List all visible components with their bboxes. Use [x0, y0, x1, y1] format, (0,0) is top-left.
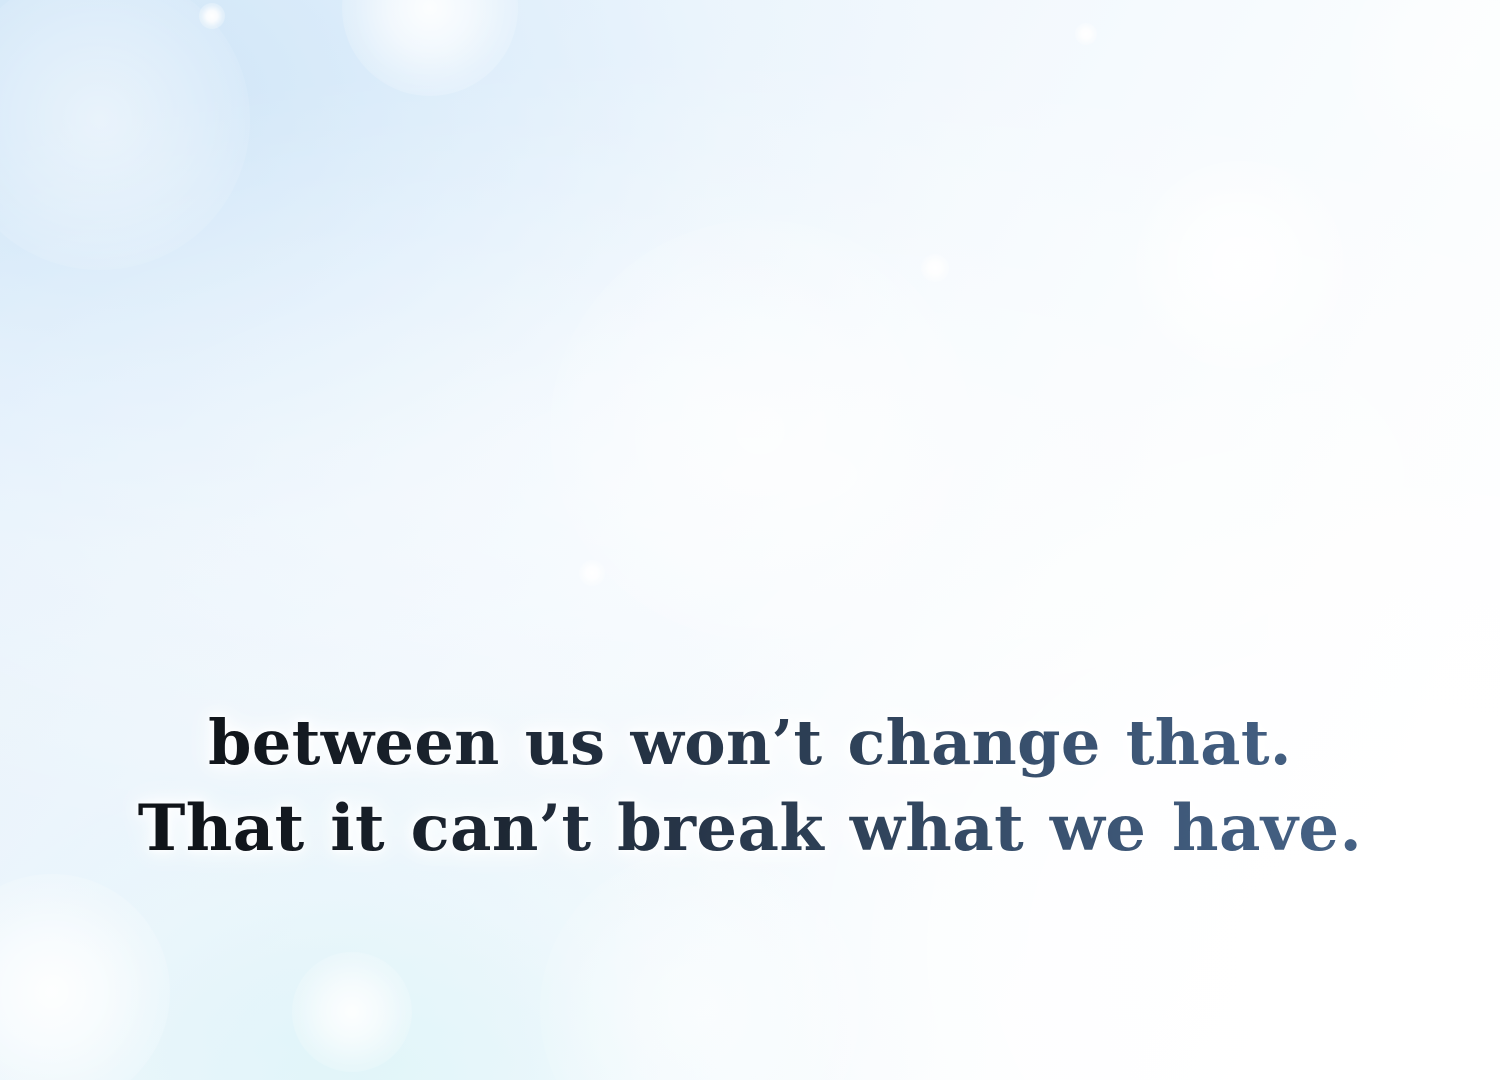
background-wash-top-left — [0, 0, 1500, 1080]
orb-mid-right-dot — [921, 254, 949, 282]
background-wash-bottom-left — [0, 0, 1500, 1080]
background-wash-center-haze — [0, 0, 1500, 1080]
orb-top-mid-dot — [1075, 23, 1097, 45]
bokeh-layer — [0, 0, 1500, 1080]
orb-mid-center-dot — [579, 560, 605, 586]
orb-right-haze — [1210, 430, 1500, 810]
background-base-gradient — [0, 0, 1500, 1080]
orb-bottom-center-haze — [540, 850, 860, 1080]
subtitle-frame: between us won’t change that. That it ca… — [0, 0, 1500, 1080]
orb-center-haze — [550, 220, 970, 640]
background-wash-bottom-right-light — [0, 0, 1500, 1080]
subtitle-line-2: That it can’t break what we have. — [0, 786, 1500, 872]
background-wash-cyan-tint — [0, 0, 1500, 1080]
orb-top-left-dot — [199, 3, 225, 29]
orb-top-center-glow — [342, 0, 518, 96]
orb-lower-left-large — [0, 874, 170, 1080]
orb-upper-right-large — [1136, 161, 1344, 369]
orb-left-text-dot — [255, 733, 275, 753]
subtitle-block: between us won’t change that. That it ca… — [0, 700, 1500, 872]
subtitle-line-1: between us won’t change that. — [0, 700, 1500, 786]
orb-upper-right-corner — [1350, 0, 1500, 180]
orb-upper-left-haze — [0, 0, 250, 270]
orb-lower-left-small — [292, 952, 412, 1072]
